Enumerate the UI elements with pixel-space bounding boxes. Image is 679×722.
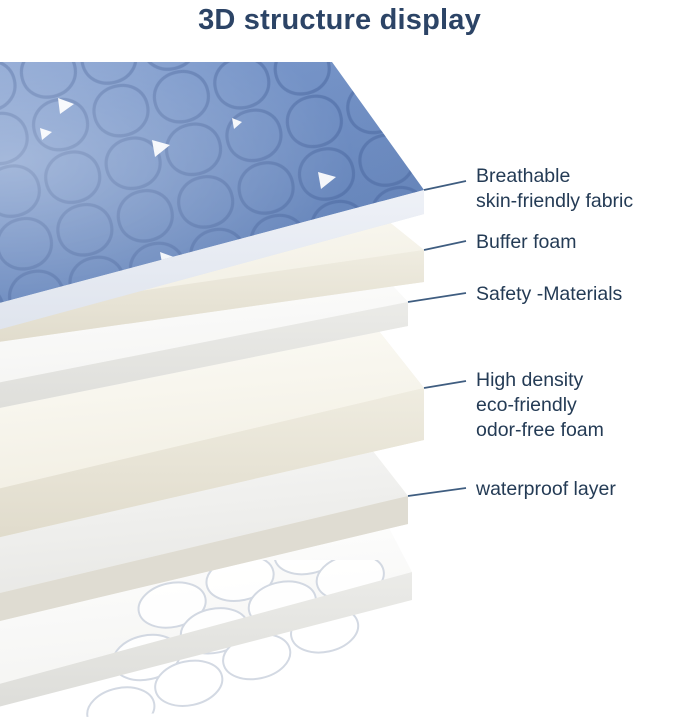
callout-label-breathable-skin-friendly-fabric: Breathable skin-friendly fabric [476, 164, 676, 214]
callout-label-high-density-foam: High density eco-friendly odor-free foam [476, 368, 676, 443]
callout-label-waterproof-layer: waterproof layer [476, 477, 676, 502]
leader-line-breathable-skin-friendly-fabric [424, 181, 466, 190]
structure-diagram: 3D structure display [0, 0, 679, 722]
leader-line-high-density-foam [424, 381, 466, 388]
exploded-layers-illustration [0, 0, 679, 722]
leader-line-buffer-foam [424, 241, 466, 250]
leader-line-safety-materials [408, 293, 466, 302]
callout-leader-lines [408, 181, 466, 496]
callout-label-buffer-foam: Buffer foam [476, 230, 676, 255]
leader-line-waterproof-layer [408, 488, 466, 496]
callout-label-safety-materials: Safety -Materials [476, 282, 676, 307]
